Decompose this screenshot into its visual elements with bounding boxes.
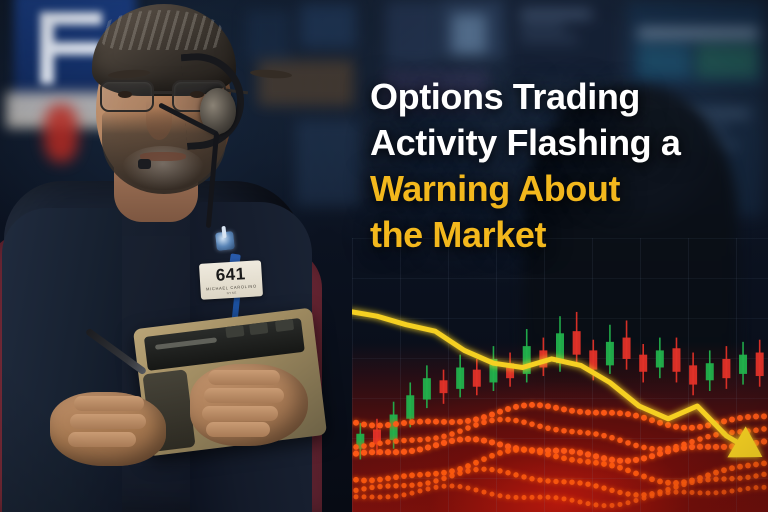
trader-left-hand xyxy=(50,392,166,466)
headline-line-2: Activity Flashing a xyxy=(370,120,760,166)
thumbnail-image: 641 MICHAEL CAROLINO NYSE Options Tradin xyxy=(0,0,768,512)
finger xyxy=(70,414,146,429)
trader-id-badge: 641 MICHAEL CAROLINO NYSE xyxy=(199,260,263,300)
headset-microphone-icon xyxy=(138,159,151,169)
finger xyxy=(74,396,144,411)
vest-pin-icon xyxy=(215,231,235,251)
tablet-button-1 xyxy=(225,325,244,338)
finger xyxy=(206,422,270,437)
badge-number: 641 xyxy=(215,265,246,284)
tablet-button-3 xyxy=(275,319,294,332)
headline-line-3: Warning About xyxy=(370,166,760,212)
badge-subtitle: NYSE xyxy=(227,290,237,295)
chart-svg xyxy=(352,238,768,512)
headline: Options Trading Activity Flashing a Warn… xyxy=(370,74,760,258)
finger xyxy=(204,388,284,403)
trader-hair-highlight xyxy=(102,10,222,50)
tablet-button-2 xyxy=(249,322,268,335)
eyebrow-right xyxy=(250,69,292,80)
finger xyxy=(208,370,280,385)
candlestick-series xyxy=(356,312,763,459)
market-chart-overlay xyxy=(352,238,768,512)
dotted-data-lines xyxy=(353,402,767,508)
headline-line-1: Options Trading xyxy=(370,74,760,120)
vest-panel-left xyxy=(2,208,122,512)
eye-left xyxy=(118,91,132,98)
foreground-trader: 641 MICHAEL CAROLINO NYSE xyxy=(0,0,394,512)
finger xyxy=(68,432,136,447)
eyeglass-bridge xyxy=(154,91,174,94)
finger xyxy=(202,406,278,421)
trader-right-hand xyxy=(190,364,308,446)
headline-line-4: the Market xyxy=(370,212,760,258)
